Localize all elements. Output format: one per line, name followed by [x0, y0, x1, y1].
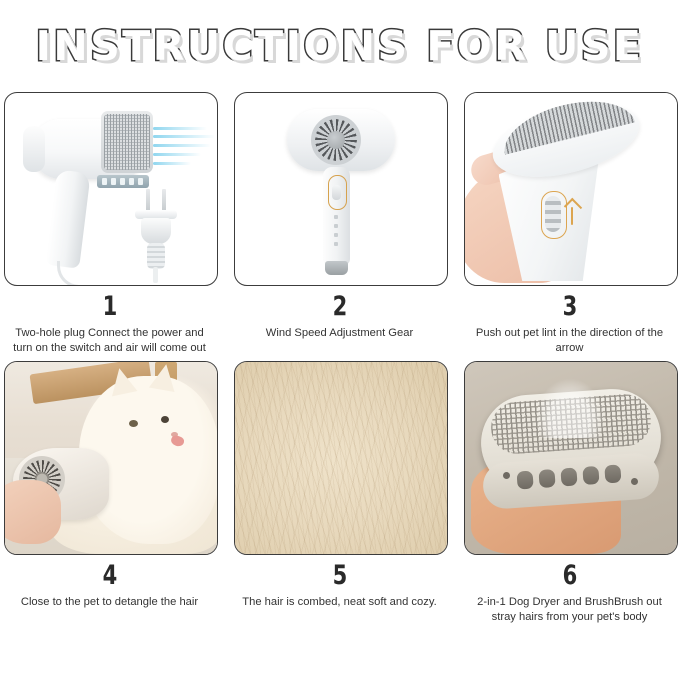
step-caption-1: Two-hole plug Connect the power and turn…: [4, 326, 216, 355]
page-title: INSTRUCTIONS FOR USE: [36, 22, 644, 70]
step-number-3: 3: [487, 293, 652, 320]
steps-grid: 1 Two-hole plug Connect the power and tu…: [0, 92, 679, 624]
lint-release-button-icon: [541, 191, 567, 239]
airflow-icon: [153, 121, 215, 177]
cat-eye-right-icon: [161, 416, 169, 423]
step-number-1: 1: [27, 293, 192, 320]
direction-arrow-icon: [565, 201, 583, 227]
collected-hair-icon: [535, 378, 605, 438]
brush-pins-icon: [104, 114, 150, 170]
step-cell-5: 5 The hair is combed, neat soft and cozy…: [234, 361, 446, 624]
fan-hub-icon: [327, 131, 345, 149]
step-cell-4: 4 Close to the pet to detangle the hair: [4, 361, 216, 624]
step-image-frame-3: [464, 92, 678, 286]
step-cell-1: 1 Two-hole plug Connect the power and tu…: [4, 92, 216, 355]
step-cell-6: 6 2-in-1 Dog Dryer and BrushBrush out st…: [464, 361, 676, 624]
step-caption-5: The hair is combed, neat soft and cozy.: [234, 595, 446, 610]
speed-indicator-dots-icon: [334, 215, 338, 251]
brush-head-icon: [101, 111, 153, 173]
step-number-4: 4: [27, 562, 192, 589]
step-number-5: 5: [257, 562, 422, 589]
dryer-handle-icon: [45, 169, 90, 268]
page-title-area: INSTRUCTIONS FOR USE: [0, 0, 679, 92]
dryer-switch-icon: [97, 175, 149, 188]
step-caption-2: Wind Speed Adjustment Gear: [234, 326, 446, 341]
step-cell-2: 2 Wind Speed Adjustment Gear: [234, 92, 446, 355]
step-caption-3: Push out pet lint in the direction of th…: [464, 326, 676, 355]
cat-ear-right-icon: [148, 362, 178, 392]
step-number-2: 2: [257, 293, 422, 320]
step-image-frame-5: [234, 361, 448, 555]
power-plug-icon: [133, 189, 179, 281]
instructions-page: INSTRUCTIONS FOR USE: [0, 0, 679, 679]
step-number-6: 6: [487, 562, 652, 589]
dryer-cord-icon: [57, 261, 112, 286]
step-image-frame-1: [4, 92, 218, 286]
step-caption-6: 2-in-1 Dog Dryer and BrushBrush out stra…: [464, 595, 676, 624]
dryer-rear-cap-icon: [23, 126, 45, 172]
screw-hole-left-icon: [503, 472, 510, 479]
dryer-base-tip-icon: [325, 261, 348, 275]
step-cell-3: 3 Push out pet lint in the direction of …: [464, 92, 676, 355]
cat-ear-left-icon: [106, 366, 137, 397]
cat-eye-left-icon: [129, 420, 138, 427]
fur-texture-photo: [235, 362, 447, 554]
step-image-frame-2: [234, 92, 448, 286]
step-image-frame-6: [464, 361, 678, 555]
step-caption-4: Close to the pet to detangle the hair: [4, 595, 216, 610]
step-image-frame-4: [4, 361, 218, 555]
power-button-icon: [328, 175, 347, 210]
screw-hole-right-icon: [631, 478, 638, 485]
hand-icon: [4, 480, 61, 544]
